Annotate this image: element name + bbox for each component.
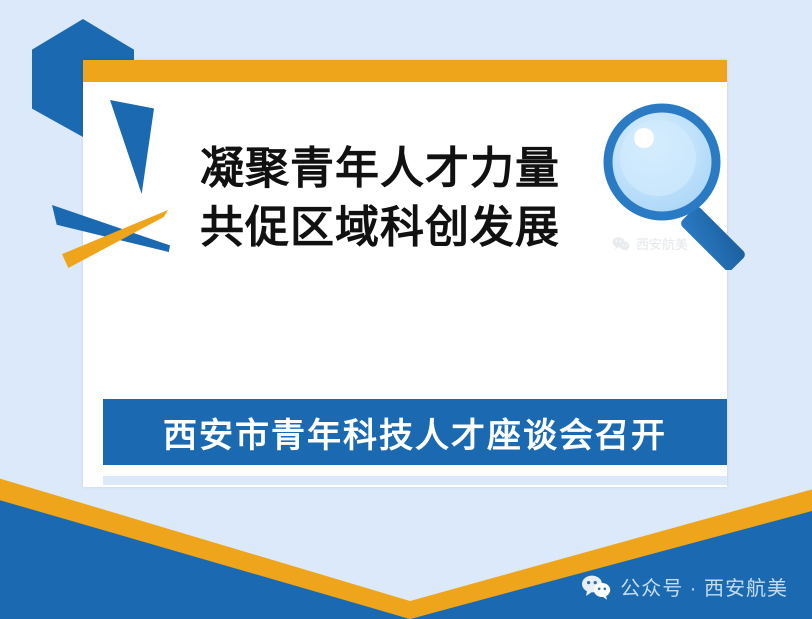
footer-account: 公众号 · 西安航美 xyxy=(581,572,788,601)
wechat-icon xyxy=(581,574,611,600)
headline-line-1: 凝聚青年人才力量 xyxy=(130,140,630,199)
card-top-accent-bar xyxy=(83,60,727,82)
headline-line-2: 共促区域科创发展 xyxy=(130,199,630,258)
banner: 西安市青年科技人才座谈会召开 xyxy=(103,399,727,465)
banner-title: 西安市青年科技人才座谈会召开 xyxy=(163,408,667,457)
footer-account-name: 公众号 · 西安航美 xyxy=(620,572,788,601)
headline: 凝聚青年人才力量 共促区域科创发展 xyxy=(130,140,630,257)
poster-canvas: 凝聚青年人才力量 共促区域科创发展 xyxy=(0,0,812,619)
banner-underline xyxy=(103,476,727,485)
magnifying-glass-icon xyxy=(600,100,760,270)
